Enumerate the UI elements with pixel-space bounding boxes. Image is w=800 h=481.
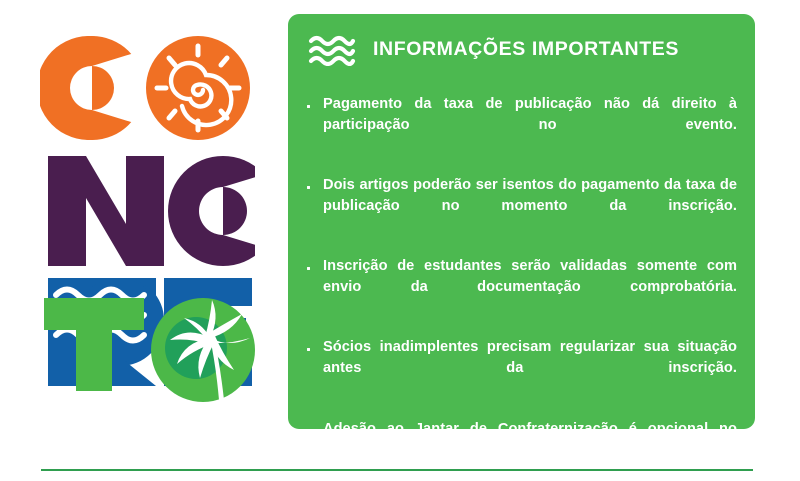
bullet-dot-icon [307,186,310,189]
panel-title: INFORMAÇÕES IMPORTANTES [373,38,679,61]
concreto-logo-svg [40,8,255,433]
logo-letter-c-purple [168,156,255,266]
logo-letter-o-sun [146,36,250,140]
list-item: Adesão ao Jantar de Confraternização é o… [307,419,737,481]
panel-header: INFORMAÇÕES IMPORTANTES [308,33,679,66]
bullet-dot-icon [307,348,310,351]
poster-page: INFORMAÇÕES IMPORTANTES Pagamento da tax… [0,0,800,474]
list-item: Sócios inadimplentes precisam regulariza… [307,337,737,399]
list-item-text: Dois artigos poderão ser isentos do paga… [323,175,737,237]
list-item-text: Sócios inadimplentes precisam regulariza… [323,337,737,399]
waves-icon [308,33,356,66]
list-item-text: Adesão ao Jantar de Confraternização é o… [323,419,737,481]
list-item: Pagamento da taxa de publicação não dá d… [307,94,737,156]
bullet-list: Pagamento da taxa de publicação não dá d… [307,94,737,481]
list-item-text: Inscrição de estudantes serão validadas … [323,256,737,318]
concreto-logo [40,8,255,433]
bullet-dot-icon [307,430,310,433]
logo-letter-o-palm [151,298,255,402]
logo-letter-n-purple [48,156,164,266]
list-item: Inscrição de estudantes serão validadas … [307,256,737,318]
list-item: Dois artigos poderão ser isentos do paga… [307,175,737,237]
bullet-dot-icon [307,105,310,108]
logo-letter-c-orange [40,36,144,140]
footer-divider [41,469,753,471]
list-item-text: Pagamento da taxa de publicação não dá d… [323,94,737,156]
important-information-panel: INFORMAÇÕES IMPORTANTES Pagamento da tax… [288,14,755,429]
bullet-dot-icon [307,267,310,270]
